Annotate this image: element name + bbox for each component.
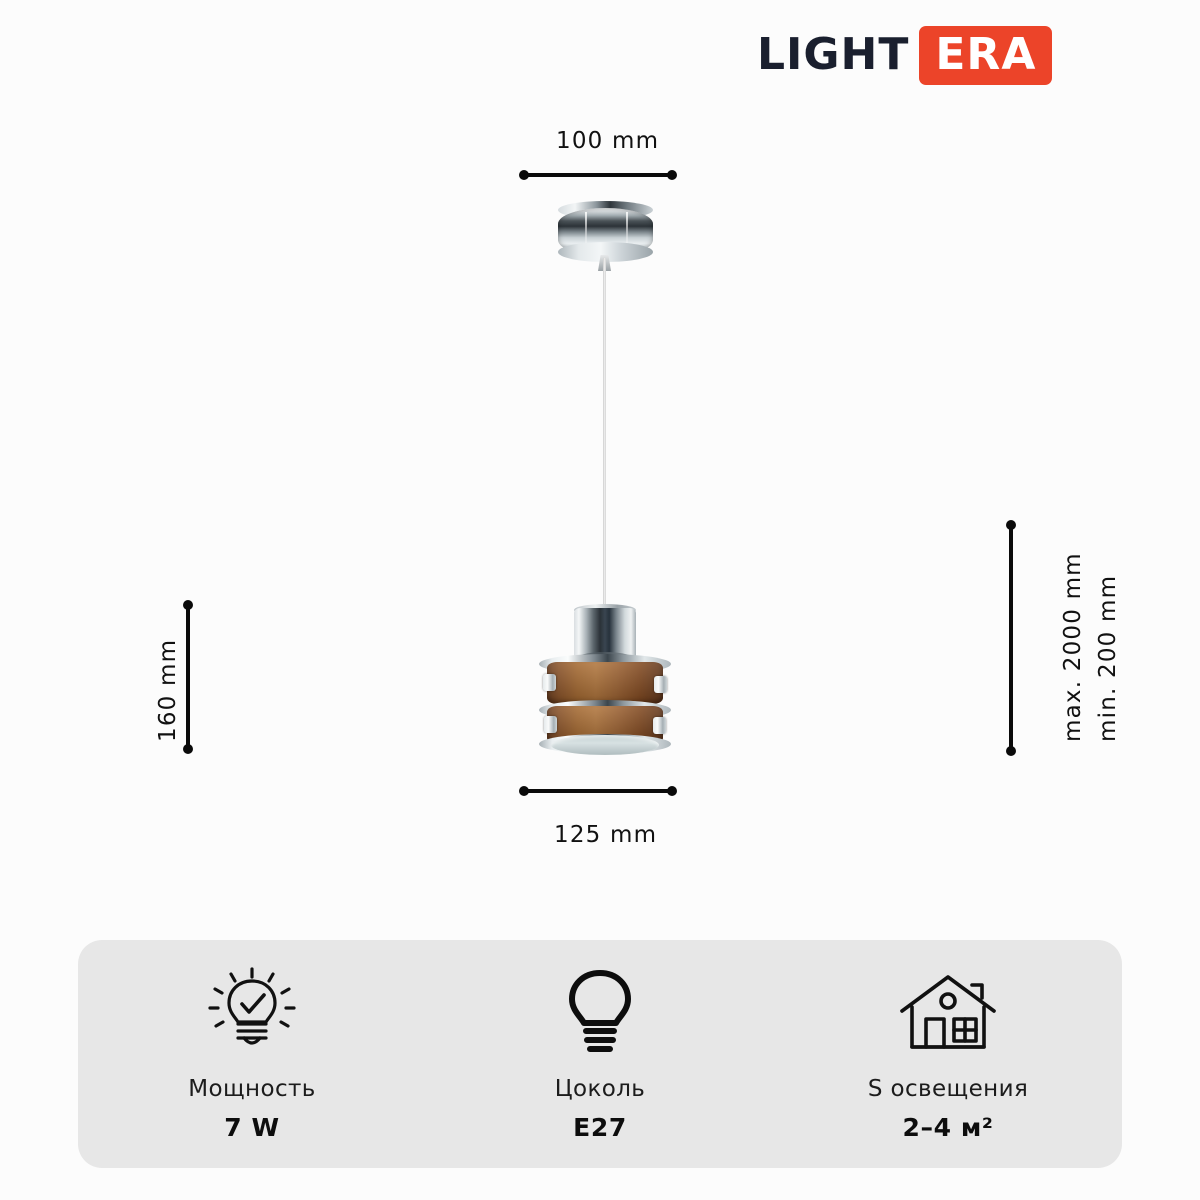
dimension-label-bottom-width: 125 mm — [554, 822, 657, 848]
spec-label-power: Мощность — [188, 1076, 316, 1102]
house-icon — [896, 966, 1000, 1060]
bulb-check-icon — [204, 966, 300, 1060]
spec-item-power: Мощность 7 W — [78, 966, 426, 1142]
dimension-label-suspension-max: max. 2000 mm — [1060, 552, 1086, 742]
shade-bolt-upper-left — [543, 674, 556, 691]
spec-value-power: 7 W — [224, 1113, 279, 1142]
bulb-socket-icon — [561, 966, 639, 1060]
wood-band-upper — [547, 662, 663, 704]
spec-value-socket: E27 — [573, 1113, 627, 1142]
product-spec-sheet: LIGHT ERA 100 mm — [0, 0, 1200, 1200]
spec-value-area: 2–4 м² — [903, 1113, 994, 1142]
lamp-shade — [525, 604, 685, 756]
bottom-diffuser — [551, 735, 659, 755]
dimension-line-bottom-width — [523, 789, 673, 793]
spec-item-socket: Цоколь E27 — [426, 966, 774, 1142]
shade-bolt-lower-right — [653, 717, 666, 734]
specifications-panel: Мощность 7 W Цоколь E27 — [78, 940, 1122, 1168]
spec-item-area: S освещения 2–4 м² — [774, 966, 1122, 1142]
spec-label-area: S освещения — [868, 1076, 1028, 1102]
shade-bolt-upper-right — [654, 676, 667, 693]
dimension-label-shade-height: 160 mm — [155, 639, 181, 742]
lamp-illustration — [0, 0, 1200, 900]
suspension-cord — [603, 258, 606, 610]
dimension-line-suspension — [1009, 524, 1013, 752]
shade-bolt-lower-left — [544, 716, 557, 733]
spec-label-socket: Цоколь — [555, 1076, 646, 1102]
dimension-line-shade-height — [186, 604, 190, 750]
dimension-label-suspension-min: min. 200 mm — [1095, 575, 1121, 742]
